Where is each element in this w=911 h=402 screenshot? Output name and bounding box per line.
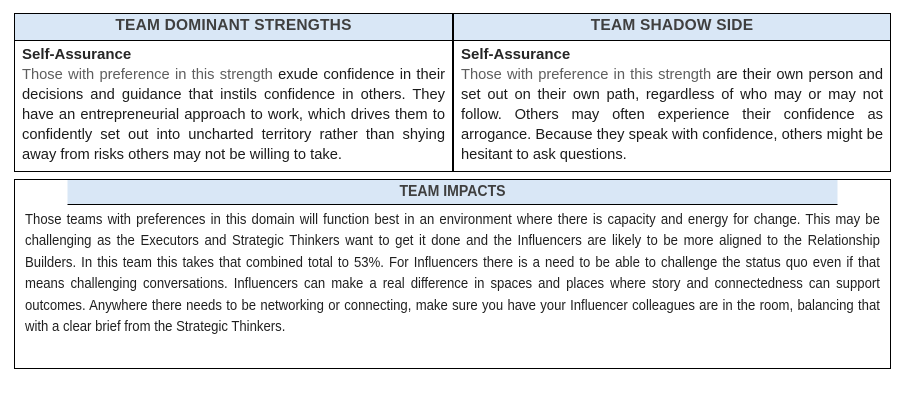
body-team-dominant-strengths: Self-Assurance Those with preference in … [15,41,452,171]
strength-description-left: Those with preference in this strength e… [22,66,445,166]
header-team-dominant-strengths: TEAM DOMINANT STRENGTHS [15,14,452,41]
report-page: TEAM DOMINANT STRENGTHS Self-Assurance T… [0,0,911,402]
body-team-shadow-side: Self-Assurance Those with preference in … [454,41,890,171]
strength-lead-left: Those with preference in this strength [22,67,278,83]
strength-name-right: Self-Assurance [461,45,883,65]
team-impacts-paragraph: Those teams with preferences in this dom… [25,210,880,339]
section-team-impacts: TEAM IMPACTS Those teams with preference… [14,179,891,369]
header-team-impacts: TEAM IMPACTS [68,180,838,205]
strengths-table: TEAM DOMINANT STRENGTHS Self-Assurance T… [14,13,891,369]
column-team-dominant-strengths: TEAM DOMINANT STRENGTHS Self-Assurance T… [14,13,453,172]
column-team-shadow-side: TEAM SHADOW SIDE Self-Assurance Those wi… [453,13,891,172]
strength-description-right: Those with preference in this strength a… [461,66,883,166]
section-spacer [14,172,891,179]
body-team-impacts: Those teams with preferences in this dom… [15,205,890,368]
strength-name-left: Self-Assurance [22,45,445,65]
strength-lead-right: Those with preference in this strength [461,67,716,83]
header-team-shadow-side: TEAM SHADOW SIDE [454,14,890,41]
two-column-section: TEAM DOMINANT STRENGTHS Self-Assurance T… [14,13,891,172]
